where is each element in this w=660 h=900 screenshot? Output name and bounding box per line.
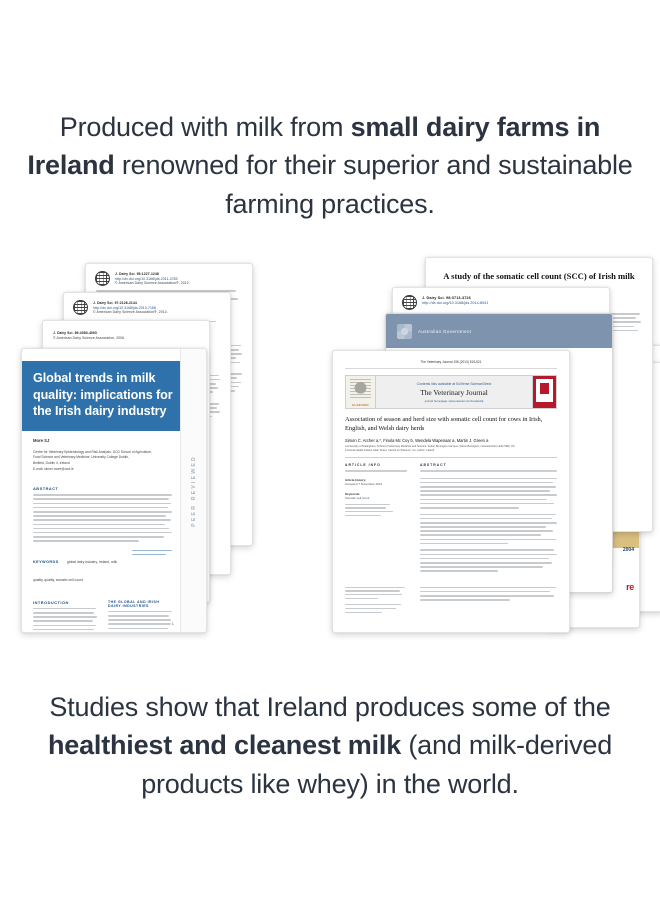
journal-cover-thumbnail — [532, 376, 556, 408]
footline-part-1: Studies show that Ireland produces some … — [49, 692, 610, 722]
elsevier-wordmark: ELSEVIER — [346, 403, 375, 407]
elsevier-logo: ELSEVIER — [346, 376, 376, 408]
dairy-science-globe-icon — [95, 271, 110, 286]
cover-year: 2004 — [623, 547, 634, 553]
paper-authors: Simon C. Archer a,*, Finola Mc Coy b, We… — [345, 438, 557, 443]
page-number: 1 — [172, 621, 174, 626]
coat-of-arms-icon — [397, 324, 412, 339]
introduction-body — [33, 608, 97, 633]
divider — [345, 457, 557, 458]
journal-copyright: © American Dairy Science Association®, 2… — [93, 310, 221, 315]
journal-masthead: J. Dairy Sci. 98:3713-3726 http://dx.doi… — [393, 288, 609, 310]
dairy-science-globe-icon — [402, 295, 417, 310]
global-industries-heading: THE GLOBAL AND IRISH DAIRY INDUSTRIES — [108, 600, 172, 608]
abstract-heading: ABSTRACT — [420, 463, 557, 467]
scc-paper-title: A study of the somatic cell count (SCC) … — [426, 258, 652, 281]
paper-title: Global trends in milk quality: implicati… — [22, 361, 195, 431]
abstract-body — [33, 494, 172, 542]
australian-government-banner: Australian Government — [386, 314, 612, 348]
dairy-science-globe-icon — [73, 300, 88, 315]
abstract-heading: ABSTRACT — [33, 486, 172, 491]
paper-affiliation-4: E-mail: simon.more@ucd.ie — [33, 467, 172, 473]
headline-part-2: renowned for their superior and sustaina… — [115, 150, 633, 218]
australian-government-label: Australian Government — [418, 329, 471, 334]
journal-name: The Veterinary Journal — [420, 388, 488, 397]
paper-title: Association of season and herd size with… — [345, 416, 557, 434]
headline-part-1: Produced with milk from — [60, 112, 351, 142]
veterinary-journal-paper: The Veterinary Journal 196 (2013) 515-52… — [332, 350, 570, 633]
journal-masthead: J. Dairy Sci. 97:2126-2144 http://dx.doi… — [64, 293, 230, 315]
abstract-body — [420, 478, 557, 572]
paper-stacks-illustration: J. Dairy Sci. 95:1227-1248 http://dx.doi… — [0, 240, 660, 660]
journal-doi: http://dx.doi.org/10.3168/jds.2014-8941 — [422, 301, 600, 306]
global-industries-body — [108, 611, 172, 633]
cover-subtitle-fragment: re — [626, 582, 634, 592]
global-trends-paper: PEER REVIEWED Global trends in milk qual… — [21, 348, 207, 633]
paper-author: More SJ — [33, 438, 172, 443]
introduction-heading: INTRODUCTION — [33, 600, 97, 605]
paper-affiliation-2: b Animal Health Ireland, Main Street, Ca… — [345, 449, 557, 453]
sciencedirect-availability-line: Contents lists available at SciVerse Sci… — [417, 382, 492, 386]
peer-reviewed-label: PEER REVIEWED — [191, 455, 197, 527]
elsevier-tree-icon — [350, 379, 371, 400]
peer-reviewed-side-tab: PEER REVIEWED — [180, 349, 206, 632]
journal-masthead: J. Dairy Sci. 89:4083-4093 © American Da… — [43, 321, 209, 340]
keywords-heading: KEYWORDS — [33, 560, 59, 564]
journal-homepage-line: journal homepage: www.elsevier.com/locat… — [425, 399, 484, 403]
article-info-heading: ARTICLE INFO — [345, 463, 407, 467]
journal-masthead: J. Dairy Sci. 95:1227-1248 http://dx.doi… — [86, 264, 252, 286]
article-history-value: Accepted 7 November 2012 — [345, 482, 407, 486]
journal-masthead-strip: ELSEVIER Contents lists available at Sci… — [345, 375, 557, 409]
headline-text: Produced with milk from small dairy farm… — [0, 108, 660, 223]
keywords-value: Somatic cell count — [345, 496, 407, 500]
footline-bold-1: healthiest and cleanest milk — [48, 730, 401, 760]
running-head: The Veterinary Journal 196 (2013) 515-52… — [345, 360, 557, 369]
journal-copyright: © American Dairy Science Association®, 2… — [115, 281, 243, 286]
footer-text: Studies show that Ireland produces some … — [0, 688, 660, 803]
